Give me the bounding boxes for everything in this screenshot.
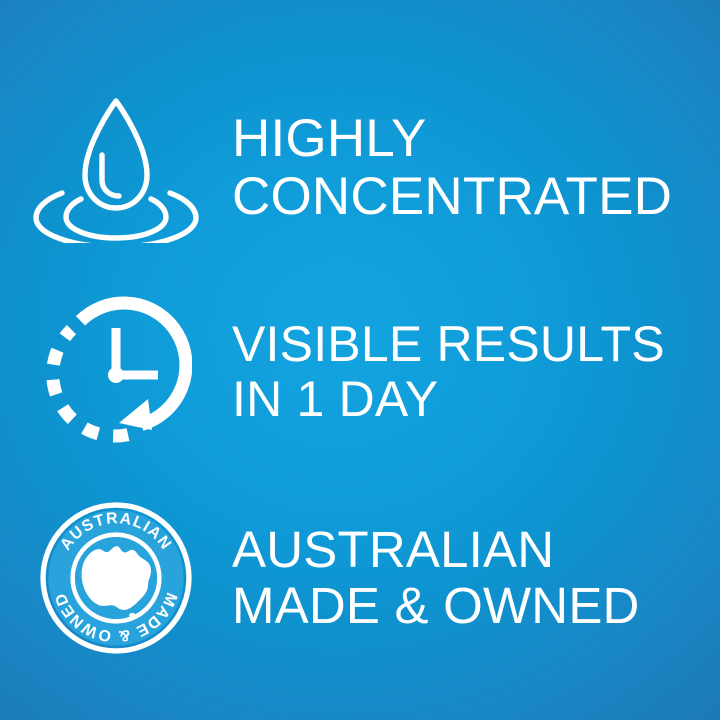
feature-text-cell: VISIBLE RESULTS IN 1 DAY [232,317,720,427]
feature-icon-cell: AUSTRALIAN MADE & OWNED [0,492,232,664]
feature-line: MADE & OWNED [232,578,720,634]
feature-text-cell: HIGHLY CONCENTRATED [232,110,720,227]
feature-row-australian-made: AUSTRALIAN MADE & OWNED AUSTRALIAN MADE … [0,492,720,664]
feature-poster: HIGHLY CONCENTRATED [0,0,720,720]
australian-made-owned-badge-icon: AUSTRALIAN MADE & OWNED [40,502,192,654]
feature-icon-cell [0,286,232,458]
feature-line: HIGHLY [232,110,720,168]
clock-center-dot-icon [108,367,124,383]
water-droplet-ripple-icon [28,93,204,243]
clock-arrow-head-icon [119,399,152,430]
feature-icon-cell [0,88,232,248]
feature-line: VISIBLE RESULTS [232,317,720,372]
feature-line: AUSTRALIAN [232,522,720,578]
feature-line: CONCENTRATED [232,168,720,226]
clock-arrow-icon [40,296,192,448]
feature-text-cell: AUSTRALIAN MADE & OWNED [232,522,720,634]
feature-row-visible-results: VISIBLE RESULTS IN 1 DAY [0,286,720,458]
feature-line: IN 1 DAY [232,372,720,427]
feature-row-highly-concentrated: HIGHLY CONCENTRATED [0,88,720,248]
